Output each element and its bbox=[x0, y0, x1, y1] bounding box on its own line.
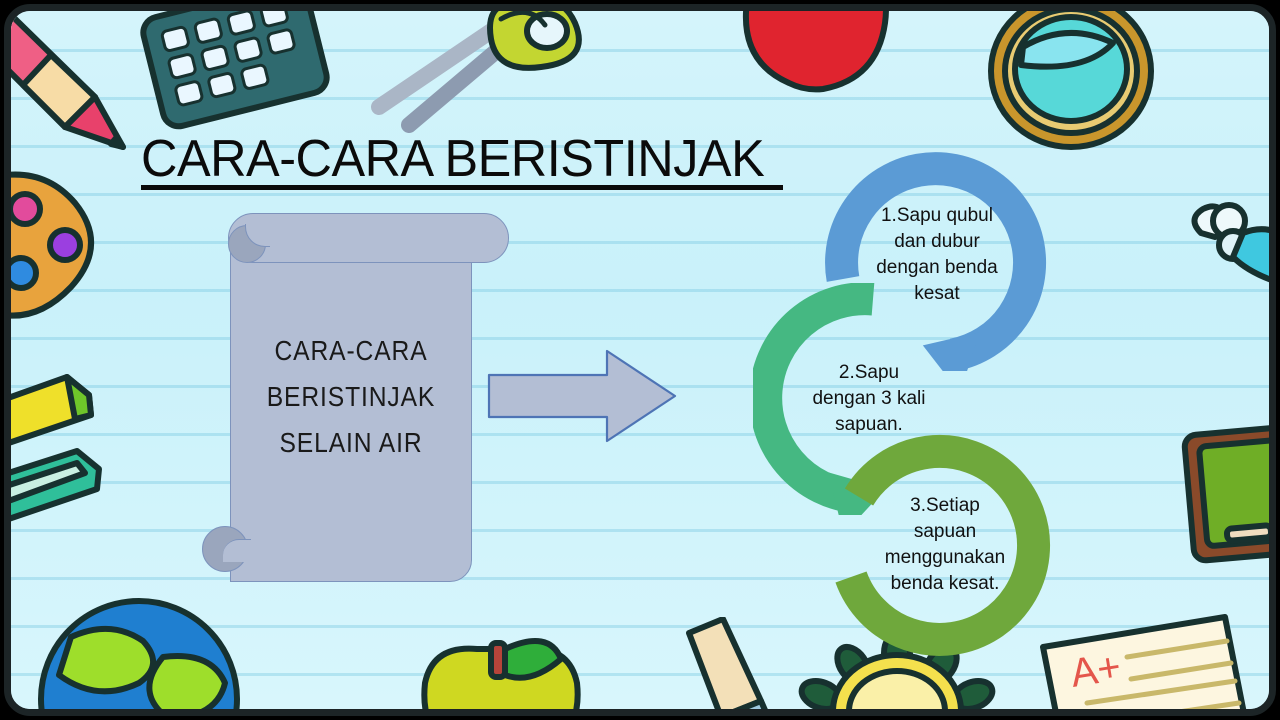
step-2-line-1: 2.Sapu bbox=[812, 360, 925, 386]
flow-arrow-right-icon bbox=[487, 349, 677, 443]
step-3-label: 3.Setiap sapuan menggunakan benda kesat. bbox=[829, 429, 1061, 661]
step-1-line-2: dan dubur bbox=[876, 229, 998, 255]
scroll-line-2: BERISTINJAK bbox=[245, 374, 458, 420]
scroll-curl-top-left bbox=[228, 225, 266, 263]
title-underline bbox=[141, 185, 783, 190]
page-title: CARA-CARA BERISTINJAK bbox=[141, 129, 764, 189]
scroll-curl-bottom-left bbox=[202, 526, 248, 572]
step-3-line-3: menggunakan bbox=[885, 545, 1005, 571]
scroll-line-1: CARA-CARA bbox=[245, 328, 458, 374]
step-3-line-2: sapuan bbox=[885, 519, 1005, 545]
step-1-line-3: dengan benda bbox=[876, 255, 998, 281]
step-3-line-4: benda kesat. bbox=[885, 571, 1005, 597]
slide-frame: A+ CARA-CARA BERISTINJAK CARA-CARA BERIS… bbox=[4, 4, 1276, 716]
scroll-line-3: SELAIN AIR bbox=[245, 420, 458, 466]
step-3-circular-arrow: 3.Setiap sapuan menggunakan benda kesat. bbox=[829, 429, 1061, 661]
scroll-top-curl-bar bbox=[228, 213, 509, 263]
scroll-card: CARA-CARA BERISTINJAK SELAIN AIR bbox=[216, 208, 516, 588]
step-3-line-1: 3.Setiap bbox=[885, 493, 1005, 519]
slide: A+ CARA-CARA BERISTINJAK CARA-CARA BERIS… bbox=[0, 0, 1280, 720]
scroll-card-text: CARA-CARA BERISTINJAK SELAIN AIR bbox=[245, 328, 458, 466]
step-2-line-2: dengan 3 kali bbox=[812, 386, 925, 412]
step-1-line-1: 1.Sapu qubul bbox=[876, 203, 998, 229]
